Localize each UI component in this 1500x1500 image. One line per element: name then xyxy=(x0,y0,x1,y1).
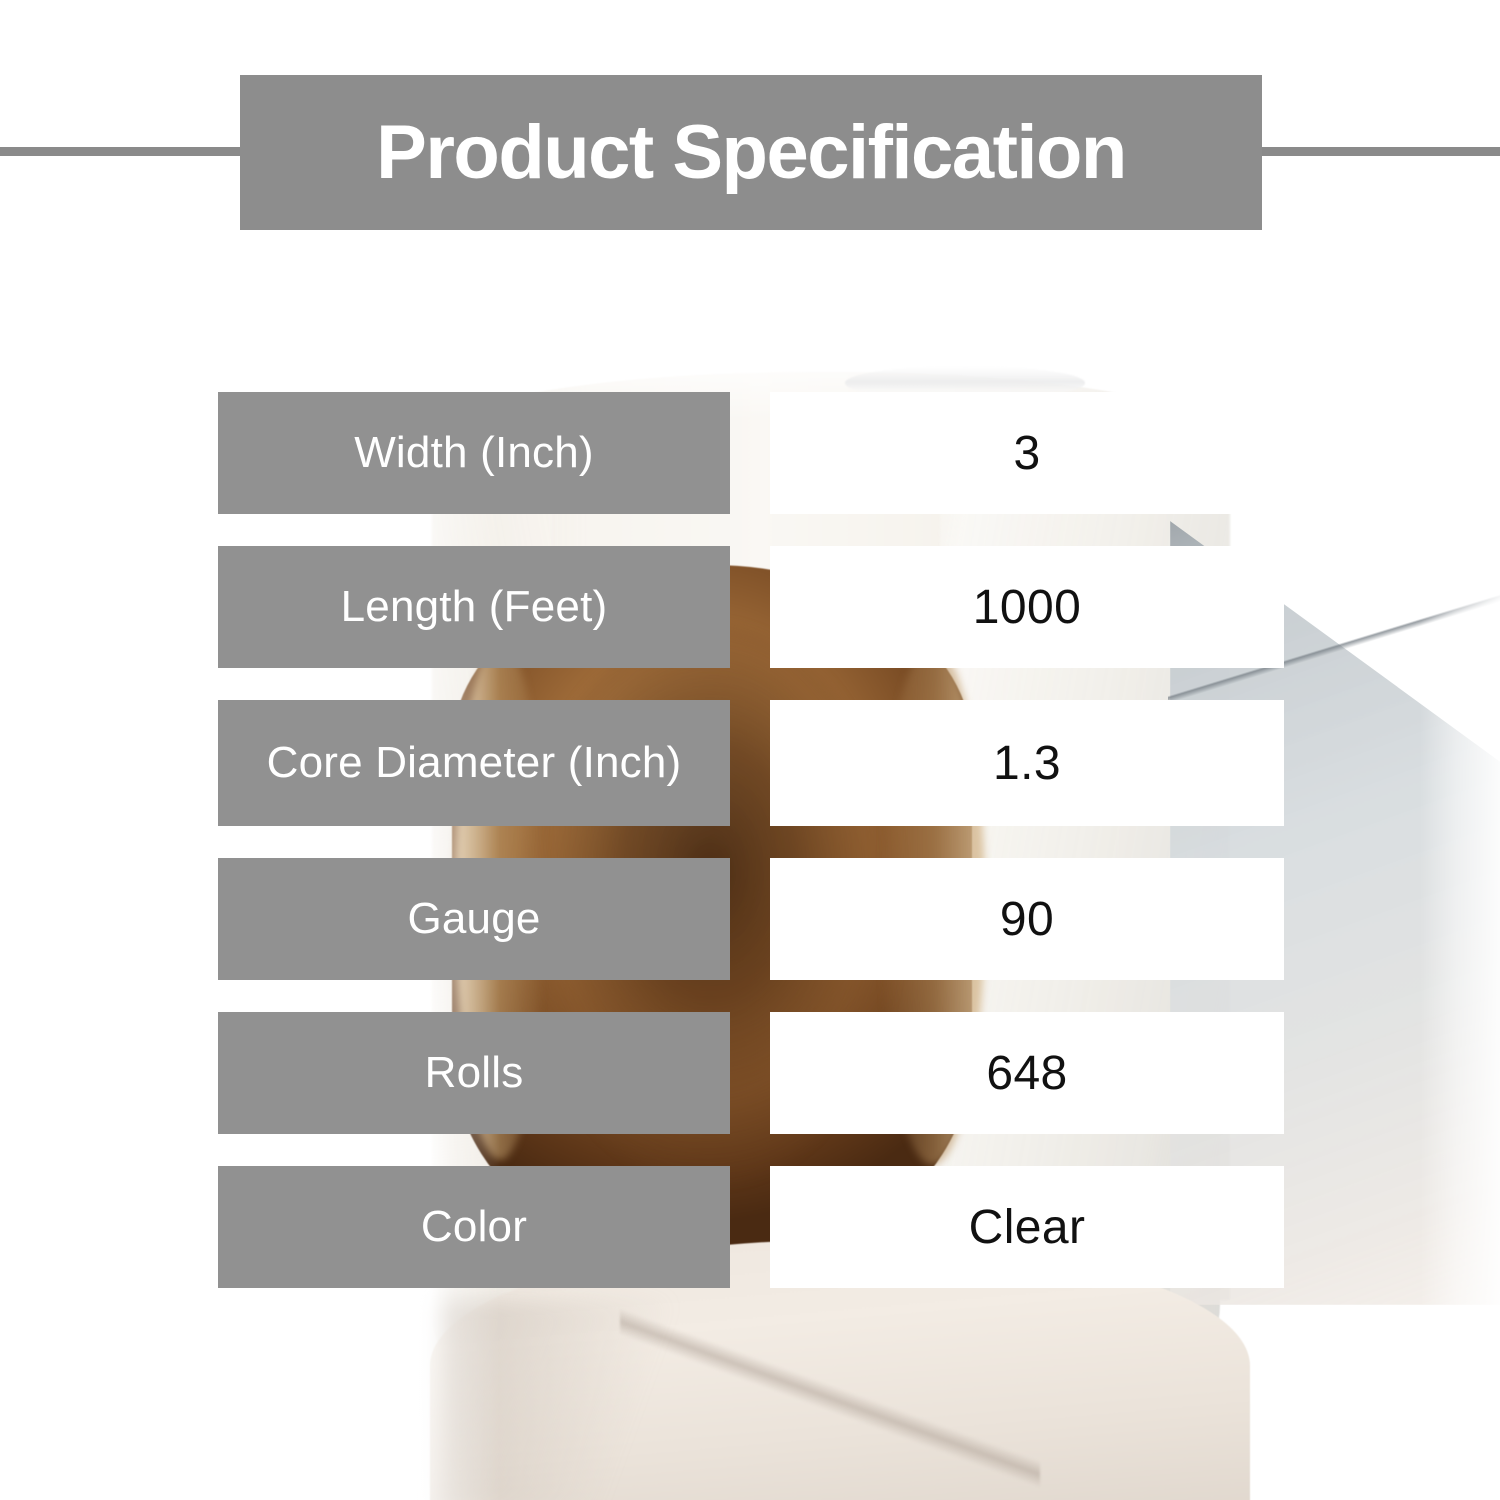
table-row: Core Diameter (Inch) 1.3 xyxy=(218,700,1284,826)
spec-label-length: Length (Feet) xyxy=(218,546,730,668)
table-row: Width (Inch) 3 xyxy=(218,392,1284,514)
table-row: Rolls 648 xyxy=(218,1012,1284,1134)
spec-value-gauge: 90 xyxy=(770,858,1284,980)
table-row: Length (Feet) 1000 xyxy=(218,546,1284,668)
page-title: Product Specification xyxy=(376,115,1126,191)
specification-table: Width (Inch) 3 Length (Feet) 1000 Core D… xyxy=(218,392,1284,1288)
spec-label-gauge: Gauge xyxy=(218,858,730,980)
roll-base-shadow xyxy=(440,1300,700,1500)
spec-label-width: Width (Inch) xyxy=(218,392,730,514)
table-row: Color Clear xyxy=(218,1166,1284,1288)
photo-fade-right xyxy=(1420,330,1500,1500)
spec-label-color: Color xyxy=(218,1166,730,1288)
header-banner: Product Specification xyxy=(240,75,1262,230)
spec-label-rolls: Rolls xyxy=(218,1012,730,1134)
spec-label-core-diameter: Core Diameter (Inch) xyxy=(218,700,730,826)
spec-value-color: Clear xyxy=(770,1166,1284,1288)
product-specification-graphic: Product Specification Width (Inch) 3 Len… xyxy=(0,0,1500,1500)
spec-value-length: 1000 xyxy=(770,546,1284,668)
spec-value-rolls: 648 xyxy=(770,1012,1284,1134)
spec-value-core-diameter: 1.3 xyxy=(770,700,1284,826)
spec-value-width: 3 xyxy=(770,392,1284,514)
table-row: Gauge 90 xyxy=(218,858,1284,980)
roll-base-seam xyxy=(620,1285,1040,1500)
